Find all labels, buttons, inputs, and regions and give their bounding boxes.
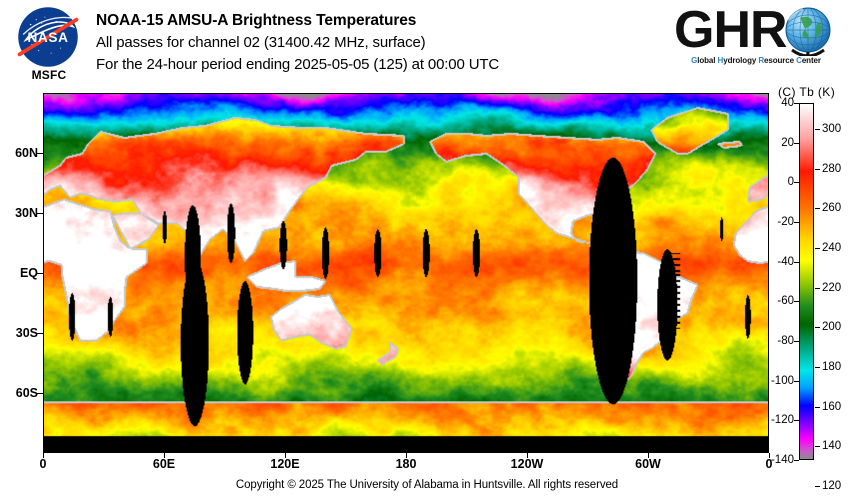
colorbar-celsius-tick <box>794 103 799 104</box>
colorbar-celsius-tick-label: -100 <box>771 375 794 387</box>
brightness-temperature-map[interactable] <box>43 93 769 453</box>
ghrc-logo: GHRC <box>672 4 840 76</box>
colorbar-kelvin-tick <box>815 248 820 249</box>
colorbar-celsius-tick-label: -120 <box>771 414 794 426</box>
map-y-axis: 60N30NEQ30S60S <box>0 0 38 502</box>
colorbar-kelvin-tick <box>815 407 820 408</box>
colorbar-kelvin-tick-label: 260 <box>822 202 841 214</box>
colorbar-kelvin-tick <box>815 327 820 328</box>
colorbar-kelvin-tick-label: 200 <box>822 321 841 333</box>
colorbar-celsius-tick-label: -140 <box>771 454 794 466</box>
map-x-tick <box>164 453 165 458</box>
title-block: NOAA-15 AMSU-A Brightness Temperatures A… <box>96 10 656 76</box>
map-y-tick <box>37 273 43 274</box>
map-image <box>44 94 768 452</box>
map-y-tick <box>37 213 43 214</box>
map-y-tick <box>37 153 43 154</box>
subtitle-period: For the 24-hour period ending 2025-05-05… <box>96 54 656 76</box>
colorbar-kelvin-tick-label: 300 <box>822 123 841 135</box>
map-x-tick-label: 60W <box>635 457 661 471</box>
colorbar-celsius-tick <box>794 381 799 382</box>
colorbar-kelvin-tick-label: 180 <box>822 361 841 373</box>
colorbar-celsius-tick <box>794 262 799 263</box>
colorbar-kelvin-tick-label: 140 <box>822 440 841 452</box>
map-y-tick-label: 30N <box>15 206 38 220</box>
colorbar-celsius-tick-label: 40 <box>781 97 794 109</box>
map-x-tick <box>527 453 528 458</box>
copyright-notice: Copyright © 2025 The University of Alaba… <box>0 479 854 491</box>
colorbar-celsius-tick-label: 20 <box>781 137 794 149</box>
map-x-tick <box>769 453 770 458</box>
map-x-tick-label: 0 <box>40 457 47 471</box>
colorbar-celsius-tick <box>794 301 799 302</box>
colorbar-kelvin-tick-label: 160 <box>822 401 841 413</box>
colorbar-celsius-tick-label: -60 <box>777 295 794 307</box>
map-y-tick-label: 60S <box>16 386 38 400</box>
colorbar-kelvin-tick <box>815 288 820 289</box>
map-y-tick <box>37 393 43 394</box>
colorbar-kelvin-tick-label: 280 <box>822 163 841 175</box>
subtitle-channel: All passes for channel 02 (31400.42 MHz,… <box>96 32 656 54</box>
colorbar-celsius-tick-label: -40 <box>777 256 794 268</box>
colorbar-kelvin-tick <box>815 129 820 130</box>
colorbar-kelvin-tick <box>815 367 820 368</box>
colorbar-celsius-tick <box>794 460 799 461</box>
map-x-tick <box>43 453 44 458</box>
colorbar-celsius-axis: 40200-20-40-60-80-100-120-140 <box>760 0 794 502</box>
map-x-tick <box>285 453 286 458</box>
map-x-tick <box>648 453 649 458</box>
colorbar-kelvin-tick <box>815 208 820 209</box>
map-x-tick-label: 180 <box>396 457 417 471</box>
page-header: NASA MSFC NOAA-15 AMSU-A Brightness Temp… <box>0 0 854 90</box>
map-x-tick-label: 120W <box>511 457 544 471</box>
colorbar-celsius-tick <box>794 222 799 223</box>
colorbar-celsius-tick-label: -80 <box>777 335 794 347</box>
page-title: NOAA-15 AMSU-A Brightness Temperatures <box>96 10 656 32</box>
ghrc-subtitle: Global Hydrology Resource Center <box>672 56 840 65</box>
map-x-tick-label: 60E <box>153 457 175 471</box>
colorbar-celsius-tick-label: -20 <box>777 216 794 228</box>
colorbar-kelvin-tick <box>815 446 820 447</box>
map-y-tick-label: 30S <box>16 326 38 340</box>
colorbar[interactable] <box>799 103 814 460</box>
colorbar-kelvin-tick <box>815 169 820 170</box>
colorbar-celsius-tick <box>794 182 799 183</box>
colorbar-celsius-tick <box>794 420 799 421</box>
colorbar-celsius-tick <box>794 341 799 342</box>
colorbar-celsius-tick <box>794 143 799 144</box>
ghrc-wordmark: GHRC <box>672 4 840 56</box>
map-y-tick-label: EQ <box>20 266 38 280</box>
map-y-tick <box>37 333 43 334</box>
colorbar-kelvin-tick <box>815 486 820 487</box>
colorbar-gradient <box>800 104 813 459</box>
map-x-tick <box>406 453 407 458</box>
colorbar-kelvin-tick-label: 240 <box>822 242 841 254</box>
map-y-tick-label: 60N <box>15 146 38 160</box>
map-x-tick-label: 120E <box>270 457 299 471</box>
colorbar-kelvin-tick-label: 220 <box>822 282 841 294</box>
